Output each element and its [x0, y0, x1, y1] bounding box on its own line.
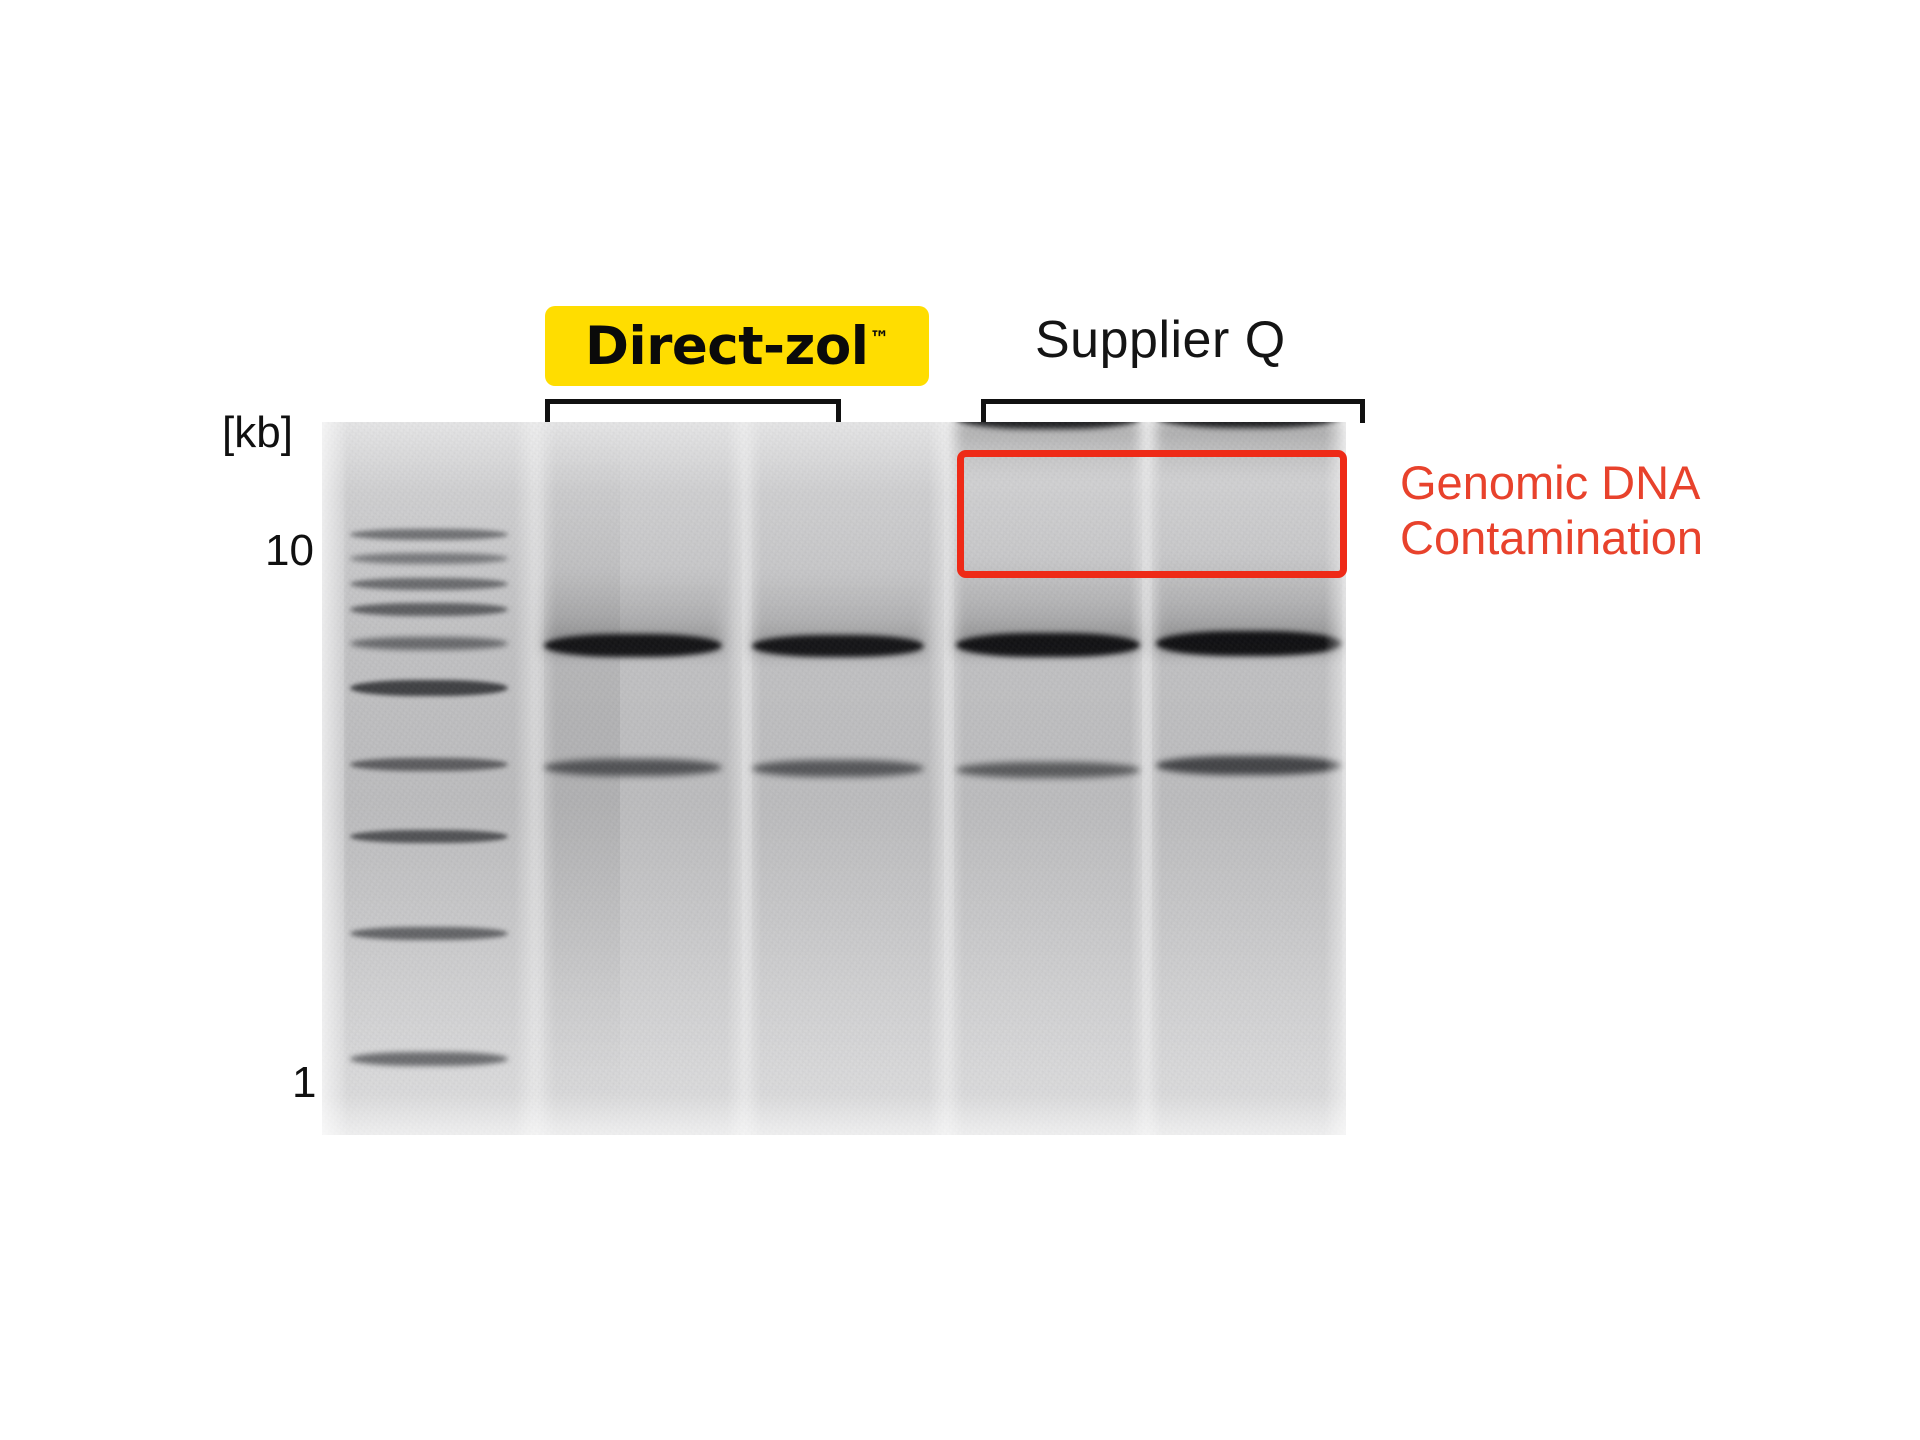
direct-zol-label-chip: Direct-zol™ — [545, 306, 929, 386]
bracket-supplier-q — [981, 399, 1365, 423]
supplier-q-2-band-18s — [1156, 756, 1342, 775]
axis-tick-10: 10 — [265, 526, 314, 576]
trademark-symbol: ™ — [869, 326, 889, 350]
axis-unit-label: [kb] — [222, 408, 293, 458]
gel-image — [322, 422, 1346, 1135]
ladder-band-5kb — [350, 603, 508, 616]
lane-direct-zol-1-shade — [544, 422, 742, 1135]
lane-direct-zol-2-shade — [752, 422, 944, 1135]
supplier-q-1-smear-genomic-dna — [956, 422, 1140, 482]
direct-zol-label-text: Direct-zol™ — [585, 320, 889, 373]
supplier-q-2-smear-28s — [1156, 560, 1342, 652]
axis-tick-1: 1 — [292, 1058, 316, 1108]
lane-divider-2 — [726, 422, 762, 1135]
direct-zol-2-smear-28s — [752, 574, 924, 654]
genomic-dna-callout-line2: Contamination — [1400, 510, 1703, 565]
lane-divider-3 — [928, 422, 964, 1135]
direct-zol-1-smear-28s — [544, 572, 722, 652]
gel-figure: Direct-zol™ Supplier Q [kb] 10 1 — [0, 0, 1920, 1440]
lane-divider-1 — [514, 422, 556, 1135]
supplier-q-2-smear-genomic-dna — [1156, 422, 1342, 482]
lane-supplier-q-2-shade — [1152, 422, 1342, 1135]
ladder-band-2-5kb — [350, 758, 508, 771]
ladder-band-10kb — [350, 529, 508, 540]
supplier-q-label-text: Supplier Q — [1035, 310, 1286, 370]
ladder-band-4kb — [350, 637, 508, 650]
lane-supplier-q-2 — [1152, 422, 1342, 1135]
ladder-band-8kb — [350, 553, 508, 564]
lane-divider-4 — [1130, 422, 1162, 1135]
ladder-band-1kb — [350, 1052, 508, 1066]
supplier-q-1-band-18s — [956, 762, 1140, 778]
direct-zol-2-band-18s — [752, 760, 924, 777]
ladder-band-6kb — [350, 578, 508, 590]
lane-supplier-q-1 — [954, 422, 1142, 1135]
supplier-q-1-smear-28s — [956, 562, 1140, 652]
direct-zol-1-band-18s — [544, 759, 722, 776]
lane-direct-zol-2 — [752, 422, 944, 1135]
lane-direct-zol-1 — [544, 422, 742, 1135]
ladder-band-1-5kb — [350, 927, 508, 940]
ladder-band-2kb — [350, 830, 508, 843]
ladder-band-3kb — [350, 680, 508, 696]
bracket-direct-zol — [545, 399, 841, 423]
genomic-dna-callout-line1: Genomic DNA — [1400, 455, 1700, 510]
lane-supplier-q-1-shade — [954, 422, 1142, 1135]
